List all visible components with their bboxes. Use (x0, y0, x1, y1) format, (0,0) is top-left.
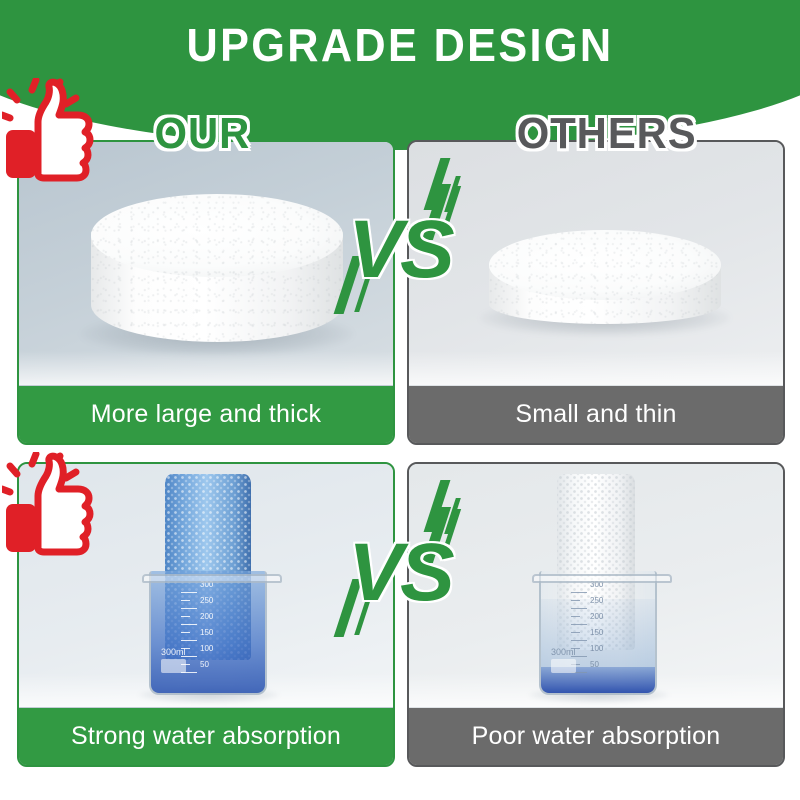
beaker-graduations: 300 250 200 150 100 (181, 585, 239, 681)
panel-others-thickness: Small and thin (407, 140, 785, 445)
disc-top-face (489, 230, 721, 300)
caption-ours-thickness: More large and thick (19, 386, 393, 443)
product-photo-others-beaker: 300 250 200 150 100 (409, 464, 783, 707)
beaker-glass: 300 250 200 150 100 (539, 571, 657, 695)
column-heading-others: OTHERS (517, 112, 697, 156)
graduation-label: 150 (200, 629, 213, 637)
beaker-scene-ours: 300 250 200 150 100 (137, 470, 287, 707)
infographic-page: UPGRADE DESIGN More large and thick (0, 0, 800, 800)
beaker-rim (532, 574, 672, 583)
beaker-label-patch (551, 659, 576, 673)
beaker-glass: 300 250 200 150 100 (149, 571, 267, 695)
column-heading-ours: OUR (155, 112, 251, 156)
disc-fiber-texture (489, 230, 721, 300)
graduation-label: 50 (590, 661, 599, 669)
graduation-label: 200 (590, 613, 603, 621)
product-photo-others-disc (409, 142, 783, 385)
caption-ours-absorption: Strong water absorption (19, 708, 393, 765)
panel-ours-thickness: More large and thick (17, 140, 395, 445)
graduation-label: 100 (200, 645, 213, 653)
graduation-label: 100 (590, 645, 603, 653)
beaker-graduations: 300 250 200 150 100 (571, 585, 629, 681)
filter-disc-thin (489, 230, 721, 324)
disc-fiber-texture (91, 194, 343, 277)
beaker-scene-others: 300 250 200 150 100 (527, 470, 677, 707)
photo-ground-shadow (409, 351, 783, 385)
beaker-volume-label: 300ml (161, 647, 186, 657)
filter-disc-thick (91, 194, 343, 342)
graduation-label: 50 (200, 661, 209, 669)
caption-others-absorption: Poor water absorption (409, 708, 783, 765)
thumbs-up-icon (2, 78, 106, 182)
beaker-rim (142, 574, 282, 583)
graduation-label: 250 (200, 597, 213, 605)
photo-ground-shadow (19, 351, 393, 385)
beaker-volume-label: 300ml (551, 647, 576, 657)
graduation-label: 250 (590, 597, 603, 605)
graduation-label: 150 (590, 629, 603, 637)
disc-top-face (91, 194, 343, 277)
graduation-label: 200 (200, 613, 213, 621)
thumbs-up-icon (2, 452, 106, 556)
caption-others-thickness: Small and thin (409, 386, 783, 443)
panel-others-absorption: 300 250 200 150 100 (407, 462, 785, 767)
page-title: UPGRADE DESIGN (24, 22, 776, 68)
beaker-label-patch (161, 659, 186, 673)
